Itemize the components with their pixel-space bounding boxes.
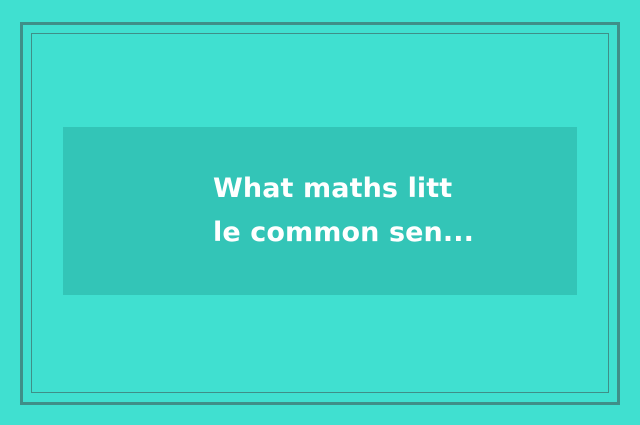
panel-text-line-2: le common sen... [213,211,577,255]
panel-text-line-1: What maths litt [213,167,577,211]
content-panel: What maths litt le common sen... [63,127,577,295]
placeholder-card: What maths litt le common sen... [0,0,640,425]
